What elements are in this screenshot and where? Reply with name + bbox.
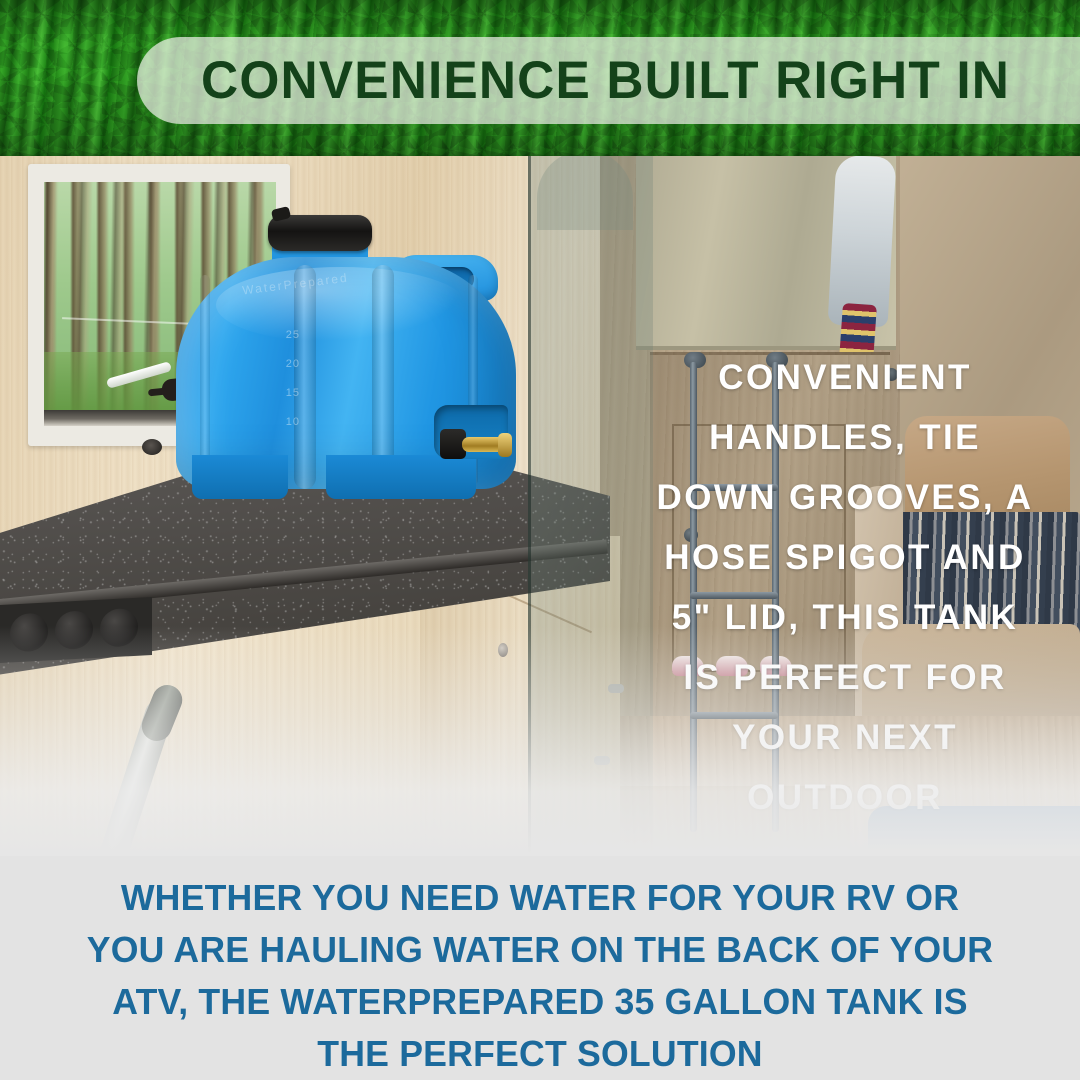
tank-foot-right (326, 455, 476, 499)
tank-gauge-marks: 25 20 15 10 (260, 321, 300, 437)
tank-gauge-mark-25: 25 (260, 321, 300, 350)
switch-knob-3[interactable] (100, 608, 138, 648)
product-photo: WaterPrepared 25 20 15 10 CONVENIENT HAN… (0, 156, 1080, 856)
control-switch-panel (0, 597, 152, 663)
caption-text: WHETHER YOU NEED WATER FOR YOUR RV OR YO… (29, 872, 1051, 1080)
water-tank: WaterPrepared 25 20 15 10 (176, 211, 536, 511)
overlay-description: CONVENIENT HANDLES, TIE DOWN GROOVES, A … (620, 348, 1070, 828)
tank-gauge-mark-20: 20 (260, 350, 300, 379)
sink-drain-plug-icon (142, 439, 162, 455)
caption-band: WHETHER YOU NEED WATER FOR YOUR RV OR YO… (0, 856, 1080, 1080)
tank-gauge-mark-10: 10 (260, 408, 300, 437)
tank-rib-left (200, 275, 210, 485)
cabinet-knob-icon (498, 643, 508, 657)
switch-knob-2[interactable] (55, 610, 93, 650)
page-title: CONVENIENCE BUILT RIGHT IN (151, 54, 1066, 107)
glass-door-hinge-2 (594, 756, 610, 765)
switch-knob-1[interactable] (10, 612, 48, 652)
tank-lid-cap[interactable] (268, 215, 372, 251)
tank-spigot-brass-tip[interactable] (498, 433, 512, 457)
header-banner: CONVENIENCE BUILT RIGHT IN (0, 0, 1080, 156)
hanging-jacket (828, 156, 897, 327)
promo-graphic: CONVENIENCE BUILT RIGHT IN (0, 0, 1080, 1080)
title-plate: CONVENIENCE BUILT RIGHT IN (137, 37, 1080, 124)
tank-foot-left (192, 455, 288, 499)
tank-gauge-mark-15: 15 (260, 379, 300, 408)
